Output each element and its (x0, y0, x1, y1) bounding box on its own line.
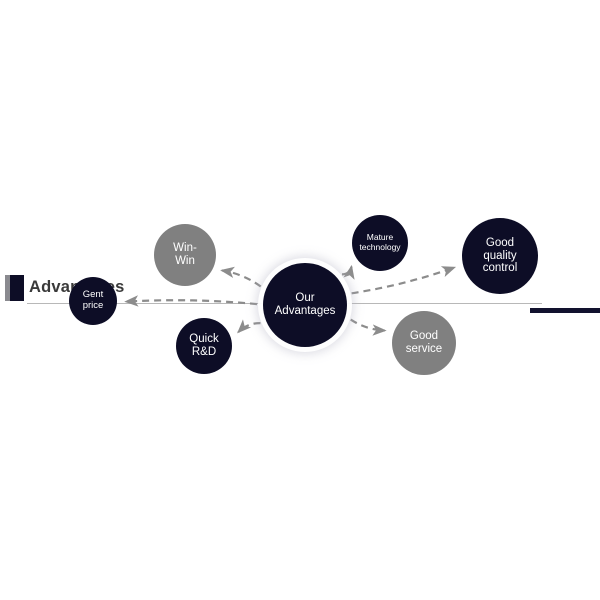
connector-our-advantages-to-win-win (222, 270, 261, 286)
node-label: Gentprice (79, 290, 108, 311)
diagram-node-mature-technology[interactable]: Maturetechnology (352, 215, 408, 271)
connector-our-advantages-to-gent-price (126, 300, 257, 304)
node-label: Goodservice (402, 330, 446, 356)
node-label: QuickR&D (185, 333, 222, 359)
node-label: Win-Win (169, 242, 201, 268)
diagram-node-good-service[interactable]: Goodservice (392, 311, 456, 375)
connector-our-advantages-to-good-quality-control (352, 268, 455, 294)
slide-header: Advantages (0, 136, 600, 180)
diagram-node-gent-price[interactable]: Gentprice (69, 277, 117, 325)
node-label: Maturetechnology (355, 233, 404, 252)
diagram-node-our-advantages[interactable]: OurAdvantages (263, 263, 347, 347)
advantages-diagram: OurAdvantages Win-Win Gentprice QuickR&D… (0, 190, 600, 410)
connector-our-advantages-to-quick-rd (238, 323, 260, 332)
connector-our-advantages-to-good-service (351, 320, 385, 331)
diagram-node-win-win[interactable]: Win-Win (154, 224, 216, 286)
diagram-node-good-quality-control[interactable]: Goodqualitycontrol (462, 218, 538, 294)
connector-our-advantages-to-mature-technology (342, 267, 352, 275)
node-label: Goodqualitycontrol (479, 237, 522, 276)
node-label: OurAdvantages (271, 292, 340, 318)
diagram-node-quick-rd[interactable]: QuickR&D (176, 318, 232, 374)
